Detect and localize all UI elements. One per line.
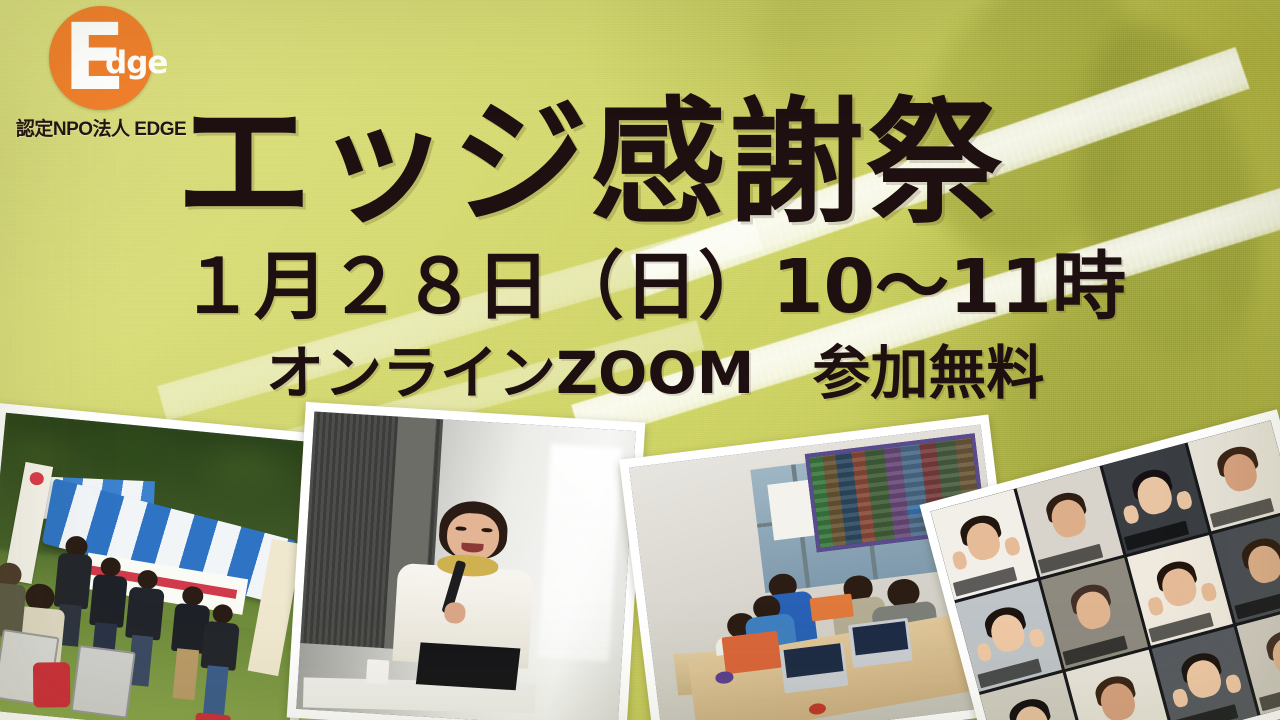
photo2-window-light bbox=[538, 444, 622, 662]
event-date-time: １月２８日（日）10〜11時 bbox=[180, 250, 1126, 324]
photo1-person-body bbox=[53, 552, 92, 609]
photo2-cup bbox=[366, 659, 390, 684]
photo1-folding-chair bbox=[70, 645, 135, 718]
logo-suffix-dge: dge bbox=[105, 48, 167, 79]
poster-canvas: E dge 認定NPO法人 EDGE エッジ感謝祭 １月２８日（日）10〜11時… bbox=[0, 0, 1280, 720]
photo1-banner-emblem bbox=[28, 471, 45, 487]
organization-name: 認定NPO法人 EDGE bbox=[6, 114, 196, 141]
organization-logo: E dge 認定NPO法人 EDGE bbox=[6, 6, 196, 141]
photo1-person-body bbox=[125, 586, 164, 640]
photo2-hand bbox=[443, 602, 465, 624]
photo2-laptop bbox=[416, 642, 520, 690]
edge-circle-icon: E dge bbox=[49, 6, 153, 110]
photo1-red-backpack bbox=[33, 663, 71, 708]
photo3-laptop-orange bbox=[721, 631, 782, 674]
photo-outdoor-tent-event-image bbox=[0, 413, 317, 720]
event-title: エッジ感謝祭 bbox=[176, 96, 1004, 232]
photo-speaker-image bbox=[296, 411, 636, 720]
event-mode-and-fee: オンラインZOOM 参加無料 bbox=[266, 344, 1044, 402]
photo-outdoor-tent-event bbox=[0, 403, 326, 720]
photo1-person-body bbox=[89, 574, 128, 628]
photo-speaker-with-microphone bbox=[287, 402, 646, 720]
photo1-person-body bbox=[201, 621, 240, 672]
